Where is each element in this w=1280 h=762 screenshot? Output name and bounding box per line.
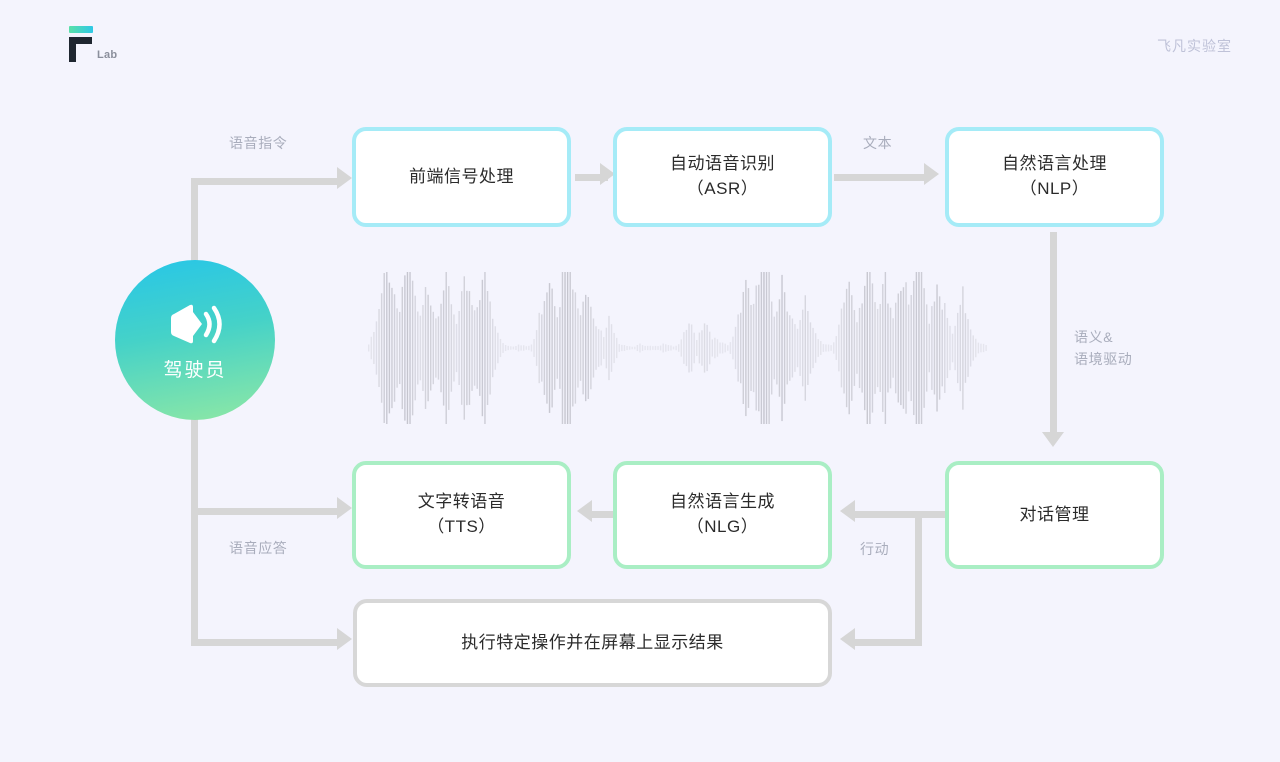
- actor-driver-label: 驾驶员: [163, 355, 226, 382]
- arrowhead-response-to-result: [337, 628, 352, 650]
- speaker-voice-icon: [164, 299, 226, 351]
- edge-label-semantic-context: 语义& 语境驱动: [1074, 327, 1132, 370]
- logo-label: Lab: [97, 49, 117, 61]
- node-label: 文字转语音 （TTS）: [418, 490, 506, 539]
- node-tts[interactable]: 文字转语音 （TTS）: [352, 461, 571, 569]
- logo-gradient-bar: [69, 26, 93, 33]
- node-nlp[interactable]: 自然语言处理 （NLP）: [945, 127, 1164, 227]
- connector-response-to-tts: [191, 508, 341, 515]
- node-label: 执行特定操作并在屏幕上显示结果: [461, 631, 724, 656]
- edge-label-text: 文本: [863, 133, 892, 155]
- logo: Lab: [66, 26, 146, 66]
- connector-action-branch-down: [915, 511, 922, 646]
- arrowhead-to-dialog: [1042, 432, 1064, 447]
- node-frontend-signal-processing[interactable]: 前端信号处理: [352, 127, 571, 227]
- diagram-canvas: Lab 飞凡实验室 语音指令 文本 语义& 语境驱动 行动 语音应答: [0, 0, 1280, 762]
- node-dialog-management[interactable]: 对话管理: [945, 461, 1164, 569]
- edge-label-voice-response: 语音应答: [229, 538, 287, 560]
- logo-corner-mark: [69, 37, 92, 62]
- connector-response-trunk: [191, 400, 198, 646]
- arrowhead-to-result-right: [840, 628, 855, 650]
- connector-dialog-to-nlg: [855, 511, 945, 518]
- audio-waveform: [368, 272, 988, 424]
- arrowhead-to-tts: [577, 500, 592, 522]
- node-asr[interactable]: 自动语音识别 （ASR）: [613, 127, 832, 227]
- connector-nlp-to-dialog: [1050, 232, 1057, 434]
- edge-label-action: 行动: [860, 539, 889, 561]
- arrowhead-to-frontend: [337, 167, 352, 189]
- connector-response-to-result: [191, 639, 341, 646]
- edge-label-voice-command: 语音指令: [229, 133, 287, 155]
- node-nlg[interactable]: 自然语言生成 （NLG）: [613, 461, 832, 569]
- arrowhead-response-to-tts: [337, 497, 352, 519]
- node-label: 对话管理: [1020, 503, 1090, 528]
- node-label: 自然语言处理 （NLP）: [1002, 152, 1107, 201]
- connector-driver-to-frontend: [191, 178, 341, 185]
- node-label: 自然语言生成 （NLG）: [670, 490, 775, 539]
- node-label: 前端信号处理: [409, 165, 514, 190]
- actor-driver[interactable]: 驾驶员: [115, 260, 275, 420]
- arrowhead-to-nlg: [840, 500, 855, 522]
- connector-asr-to-nlp: [834, 174, 924, 181]
- node-label: 自动语音识别 （ASR）: [670, 152, 775, 201]
- connector-action-to-result: [855, 639, 922, 646]
- arrowhead-to-nlp: [924, 163, 939, 185]
- brand-name: 飞凡实验室: [1157, 36, 1232, 56]
- node-result-display[interactable]: 执行特定操作并在屏幕上显示结果: [353, 599, 832, 687]
